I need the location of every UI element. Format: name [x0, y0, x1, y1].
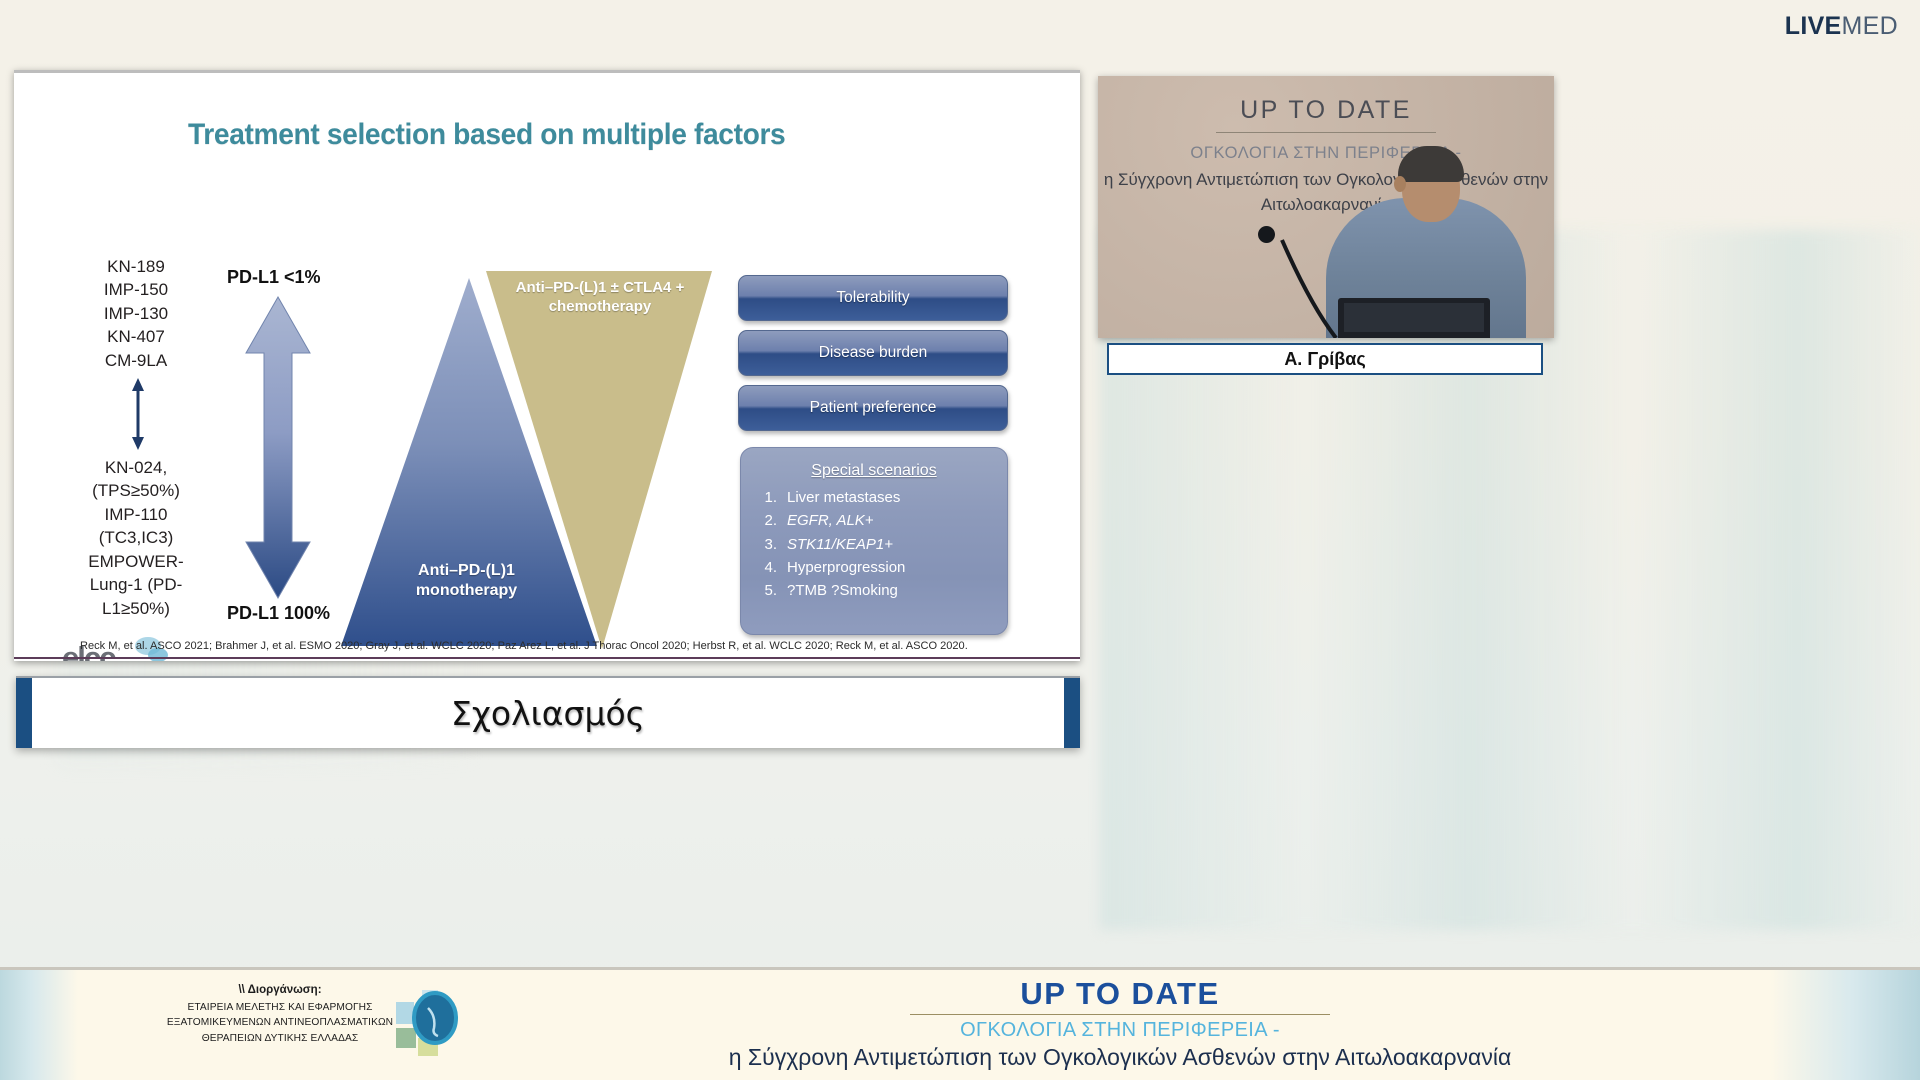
- list-number: 2.: [759, 509, 777, 532]
- citations-text: Reck M, et al. ASCO 2021; Brahmer J, et …: [80, 640, 1036, 652]
- bottom-banner: \\ Διοργάνωση: ΕΤΑΙΡΕΙΑ ΜΕΛΕΤΗΣ ΚΑΙ ΕΦΑΡ…: [0, 967, 1920, 1080]
- microphone-icon: [1276, 232, 1344, 338]
- slide-bottom-rule: [14, 657, 1080, 659]
- list-text: EGFR, ALK+: [787, 509, 874, 532]
- factor-label: Tolerability: [836, 289, 909, 307]
- special-scenarios-list: 1.Liver metastases 2.EGFR, ALK+ 3.STK11/…: [741, 486, 1007, 602]
- livemed-logo: LIVEMED: [1785, 14, 1898, 39]
- list-text: Liver metastases: [787, 486, 900, 509]
- video-slide-rule: [1216, 132, 1436, 133]
- list-number: 1.: [759, 486, 777, 509]
- speaker-name-bar: Α. Γρίβας: [1107, 343, 1543, 375]
- trial-item: CM-9LA: [76, 349, 196, 372]
- trial-item: (TC3,IC3): [66, 526, 206, 549]
- logo-live-text: LIVE: [1785, 12, 1842, 40]
- trials-top-list: KN-189 IMP-150 IMP-130 KN-407 CM-9LA: [76, 255, 196, 372]
- speaker-video-panel[interactable]: UP TO DATE ΟΓΚΟΛΟΓΙΑ ΣΤΗΝ ΠΕΡΙΦΕΡΕΙΑ - η…: [1098, 76, 1554, 338]
- list-item: 3.STK11/KEAP1+: [759, 533, 1007, 556]
- factor-box-tolerability[interactable]: Tolerability: [738, 275, 1008, 321]
- trial-item: (TPS≥50%): [66, 479, 206, 502]
- organizer-block: \\ Διοργάνωση: ΕΤΑΙΡΕΙΑ ΜΕΛΕΤΗΣ ΚΑΙ ΕΦΑΡ…: [150, 984, 410, 1046]
- speaker-name: Α. Γρίβας: [1284, 349, 1365, 370]
- trial-item: Lung-1 (PD-: [66, 573, 206, 596]
- special-scenarios-title: Special scenarios: [741, 462, 1007, 480]
- organizer-line: ΘΕΡΑΠΕΙΩΝ ΔΥΤΙΚΗΣ ΕΛΛΑΔΑΣ: [150, 1031, 410, 1046]
- list-item: 1.Liver metastases: [759, 486, 1007, 509]
- banner-center: UP TO DATE ΟΓΚΟΛΟΓΙΑ ΣΤΗΝ ΠΕΡΙΦΕΡΕΙΑ - η…: [500, 976, 1740, 1071]
- list-number: 4.: [759, 556, 777, 579]
- trials-bottom-list: KN-024, (TPS≥50%) IMP-110 (TC3,IC3) EMPO…: [66, 456, 206, 620]
- trial-item: IMP-110: [66, 503, 206, 526]
- combination-triangle: [474, 269, 714, 651]
- organizer-heading: \\ Διοργάνωση:: [150, 984, 410, 996]
- slide-viewer[interactable]: Treatment selection based on multiple fa…: [14, 70, 1080, 661]
- trial-item: KN-189: [76, 255, 196, 278]
- list-item: 5.?TMB ?Smoking: [759, 579, 1007, 602]
- trial-item: IMP-150: [76, 278, 196, 301]
- event-logo-icon: [392, 982, 478, 1068]
- double-arrow-icon: [130, 378, 146, 450]
- caption-bar[interactable]: Σχολιασμός: [16, 676, 1080, 748]
- pdl1-gradient-arrow-icon: [240, 295, 316, 600]
- banner-rule: [910, 1014, 1330, 1015]
- pdl1-bottom-label: PD-L1 100%: [227, 603, 330, 624]
- banner-edge-right: [1770, 970, 1920, 1080]
- banner-title: UP TO DATE: [500, 976, 1740, 1012]
- caption-text: Σχολιασμός: [16, 678, 1080, 748]
- banner-subtitle1: ΟΓΚΟΛΟΓΙΑ ΣΤΗΝ ΠΕΡΙΦΕΡΕΙΑ -: [500, 1019, 1740, 1042]
- slide-canvas: Treatment selection based on multiple fa…: [14, 73, 1080, 661]
- list-item: 2.EGFR, ALK+: [759, 509, 1007, 532]
- video-slide-subtitle1: ΟΓΚΟΛΟΓΙΑ ΣΤΗΝ ΠΕΡΙΦΕΡΕΙΑ -: [1098, 144, 1554, 163]
- logo-med-text: MED: [1842, 12, 1898, 40]
- video-slide-title: UP TO DATE: [1098, 96, 1554, 125]
- special-scenarios-box[interactable]: Special scenarios 1.Liver metastases 2.E…: [740, 447, 1008, 635]
- laptop-icon: [1338, 298, 1490, 338]
- factor-box-patient-preference[interactable]: Patient preference: [738, 385, 1008, 431]
- trial-item: KN-407: [76, 325, 196, 348]
- list-text: ?TMB ?Smoking: [787, 579, 898, 602]
- speaker-ear: [1394, 176, 1406, 192]
- organizer-line: ΕΤΑΙΡΕΙΑ ΜΕΛΕΤΗΣ ΚΑΙ ΕΦΑΡΜΟΓΗΣ: [150, 1000, 410, 1015]
- banner-edge-left: [0, 970, 78, 1080]
- microphone-head-icon: [1258, 226, 1275, 243]
- trial-item: IMP-130: [76, 302, 196, 325]
- combination-label: Anti–PD-(L)1 ± CTLA4 + chemotherapy: [500, 279, 700, 317]
- list-item: 4.Hyperprogression: [759, 556, 1007, 579]
- factor-label: Disease burden: [819, 344, 928, 362]
- organizer-line: ΕΞΑΤΟΜΙΚΕΥΜΕΝΩΝ ΑΝΤΙΝΕΟΠΛΑΣΜΑΤΙΚΩΝ: [150, 1015, 410, 1030]
- list-number: 3.: [759, 533, 777, 556]
- pdl1-top-label: PD-L1 <1%: [227, 267, 321, 288]
- list-text: Hyperprogression: [787, 556, 905, 579]
- banner-subtitle2: η Σύγχρονη Αντιμετώπιση των Ογκολογικών …: [500, 1044, 1740, 1071]
- slide-title: Treatment selection based on multiple fa…: [188, 118, 785, 152]
- trial-item: KN-024,: [66, 456, 206, 479]
- trial-item: L1≥50%): [66, 597, 206, 620]
- trial-item: EMPOWER-: [66, 550, 206, 573]
- list-text: STK11/KEAP1+: [787, 533, 893, 556]
- factor-box-disease-burden[interactable]: Disease burden: [738, 330, 1008, 376]
- factor-label: Patient preference: [810, 399, 937, 417]
- list-number: 5.: [759, 579, 777, 602]
